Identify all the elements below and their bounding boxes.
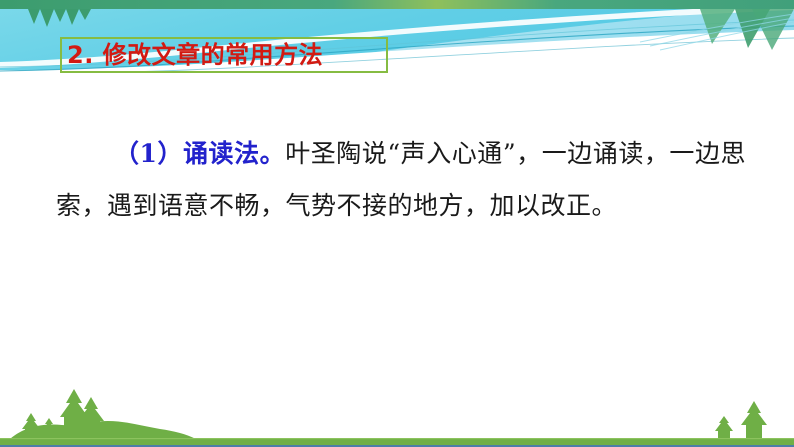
pine-tree-small-right bbox=[715, 416, 733, 440]
ground-strip-highlight bbox=[0, 438, 794, 439]
pine-tree-tiny bbox=[42, 418, 56, 439]
paragraph-1: （1）诵读法。叶圣陶说“声入心通”，一边诵读，一边思索，遇到语意不畅，气势不接的… bbox=[56, 128, 746, 232]
bottom-tree-graphic bbox=[0, 377, 794, 447]
slide-canvas: 2. 修改文章的常用方法 （1）诵读法。叶圣陶说“声入心通”，一边诵读，一边思索… bbox=[0, 0, 794, 447]
body-text-block: （1）诵读法。叶圣陶说“声入心通”，一边诵读，一边思索，遇到语意不畅，气势不接的… bbox=[56, 128, 746, 232]
pine-tree-right bbox=[741, 401, 767, 440]
method-label: （1）诵读法。 bbox=[114, 139, 285, 168]
ground-strip-green bbox=[0, 439, 794, 445]
bottom-decoration-trees bbox=[0, 377, 794, 447]
top-green-bar bbox=[0, 0, 794, 9]
ground-mound bbox=[10, 421, 196, 439]
page-title: 2. 修改文章的常用方法 bbox=[67, 39, 387, 71]
